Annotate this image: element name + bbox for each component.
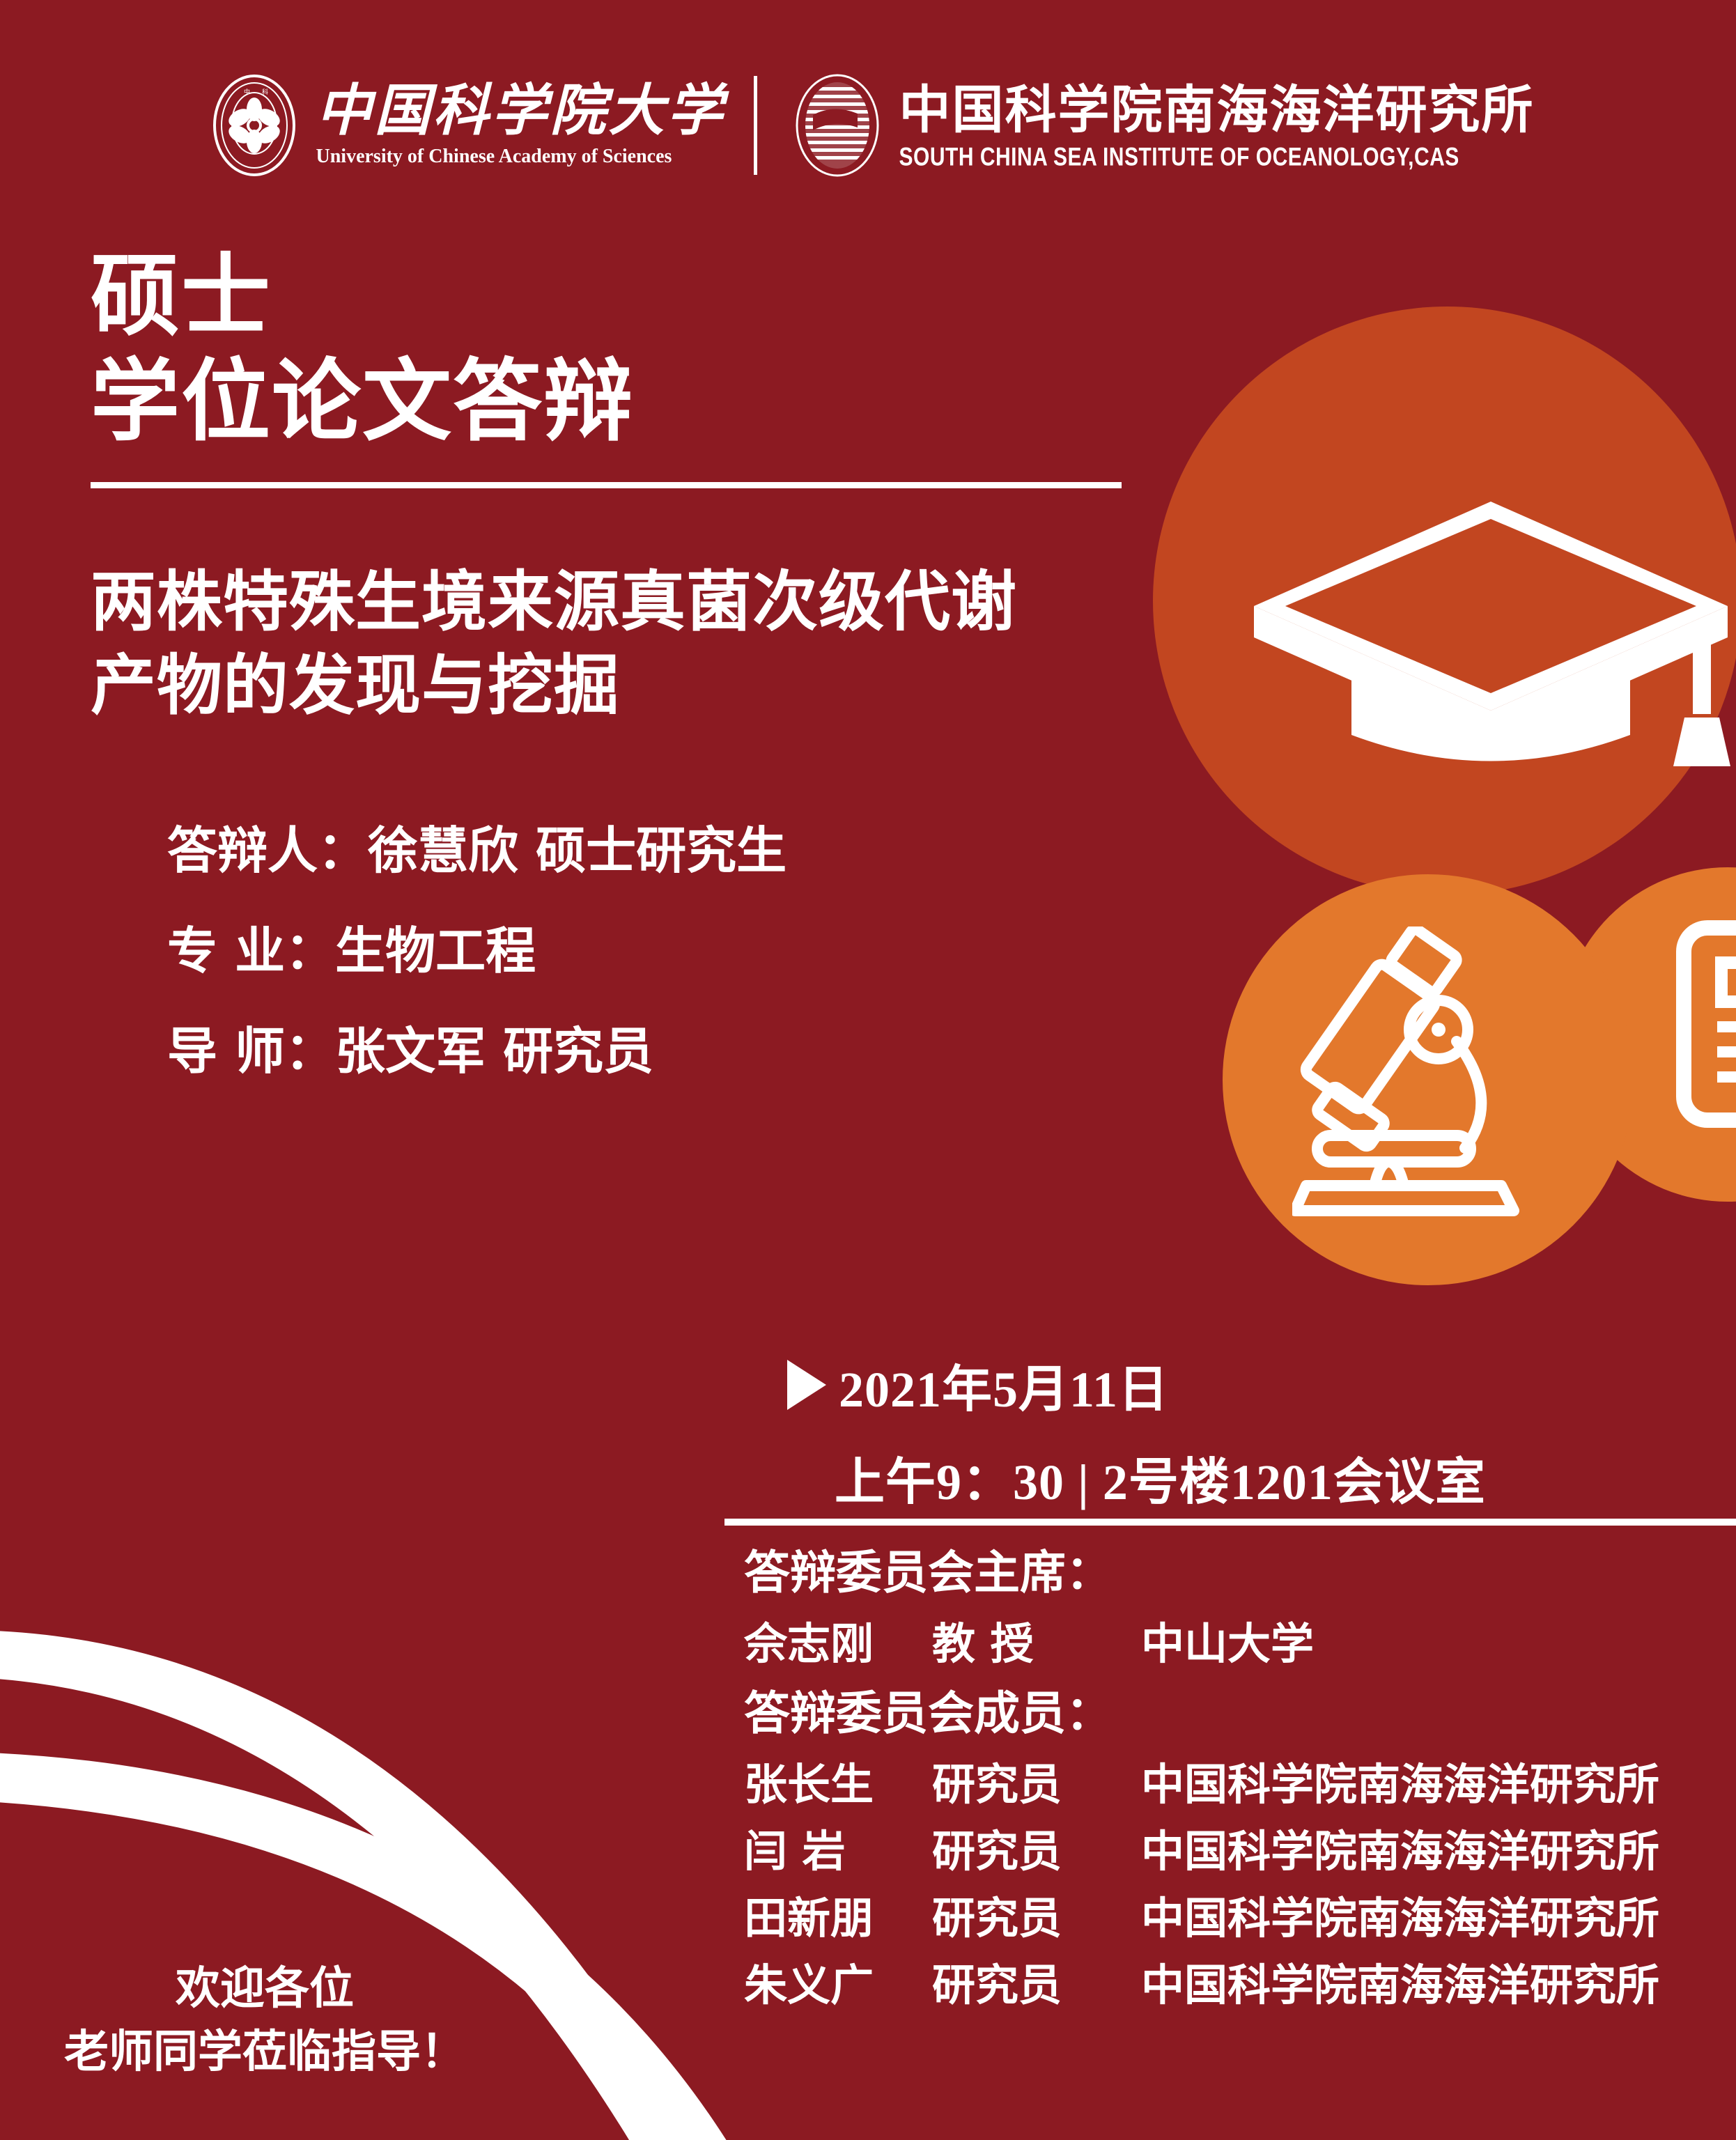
thesis-title: 两株特殊生境来源真菌次级代谢 产物的发现与挖掘 — [91, 561, 1149, 729]
committee-member-org: 中国科学院南海海洋研究所 — [1141, 1763, 1736, 1806]
thesis-title-line-1: 两株特殊生境来源真菌次级代谢 — [91, 561, 1149, 644]
committee-member-title: 研究员 — [932, 1897, 1141, 1940]
committee-member-org: 中国科学院南海海洋研究所 — [1141, 1830, 1736, 1873]
svg-text:中: 中 — [244, 88, 250, 96]
committee-member-org: 中国科学院南海海洋研究所 — [1141, 1897, 1736, 1940]
committee-chair-org: 中山大学 — [1141, 1622, 1736, 1666]
presenter-row-name: 答辩人：徐慧欣 硕士研究生 — [167, 825, 786, 876]
headline-line-2: 学位论文答辩 — [91, 349, 634, 454]
scsio-name-cn: 中国科学院南海海洋研究所 — [899, 84, 1535, 136]
committee-chair-title: 教 授 — [932, 1622, 1141, 1666]
document-icon — [1675, 920, 1736, 1129]
table-row: 田新朋 研究员 中国科学院南海海洋研究所 — [744, 1897, 1736, 1940]
committee-chair-name: 佘志刚 — [744, 1622, 932, 1666]
presenter-row-advisor: 导 师：张文军 研究员 — [167, 1026, 786, 1076]
committee-member-name: 田新朋 — [744, 1897, 932, 1940]
defense-date: 2021年5月11日 — [839, 1348, 1169, 1421]
table-row: 张长生 研究员 中国科学院南海海洋研究所 — [744, 1763, 1736, 1806]
play-triangle-icon — [787, 1360, 826, 1410]
table-row: 朱义广 研究员 中国科学院南海海洋研究所 — [744, 1964, 1736, 2007]
headline-divider — [91, 482, 1122, 488]
presenter-row-major: 专 业：生物工程 — [167, 926, 786, 976]
ucas-seal-icon: 中科 — [202, 73, 307, 178]
presenter-label-major: 专 业： — [167, 922, 335, 980]
graduation-cap-icon — [1247, 488, 1735, 780]
committee-member-title: 研究员 — [932, 1763, 1141, 1806]
committee-chair-heading: 答辩委员会主席： — [744, 1550, 1736, 1596]
page-title: 硕士 学位论文答辩 — [91, 244, 634, 454]
committee-member-name: 闫 岩 — [744, 1830, 932, 1873]
presenter-info: 答辩人：徐慧欣 硕士研究生 专 业：生物工程 导 师：张文军 研究员 — [167, 825, 786, 1126]
committee-member-name: 张长生 — [744, 1763, 932, 1806]
defense-date-row: 2021年5月11日 — [787, 1348, 1486, 1421]
presenter-value-major: 生物工程 — [335, 922, 536, 980]
welcome-message: 欢迎各位 老师同学莅临指导！ — [42, 1957, 488, 2084]
presenter-value-name: 徐慧欣 硕士研究生 — [368, 821, 786, 880]
presenter-label-advisor: 导 师： — [167, 1022, 335, 1080]
schedule-block: 2021年5月11日 上午9：30 | 2号楼1201会议室 — [787, 1348, 1486, 1514]
logo-divider — [754, 76, 757, 175]
welcome-line-2: 老师同学莅临指导！ — [42, 2021, 488, 2084]
ucas-logo-text: 中国科学院大学 University of Chinese Academy of… — [316, 83, 726, 168]
committee-block: 答辩委员会主席： 佘志刚 教 授 中山大学 答辩委员会成员： 张长生 研究员 中… — [744, 1550, 1736, 2031]
committee-member-org: 中国科学院南海海洋研究所 — [1141, 1964, 1736, 2007]
scsio-logo: 中国科学院南海海洋研究所 SOUTH CHINA SEA INSTITUTE O… — [785, 73, 1535, 178]
ucas-logo: 中科 中国科学院大学 University of Chinese Academy… — [202, 73, 726, 178]
defense-time-venue: 上午9：30 | 2号楼1201会议室 — [835, 1441, 1486, 1514]
poster-root: 中科 中国科学院大学 University of Chinese Academy… — [0, 0, 1736, 2140]
scsio-logo-text: 中国科学院南海海洋研究所 SOUTH CHINA SEA INSTITUTE O… — [899, 84, 1535, 166]
committee-member-title: 研究员 — [932, 1964, 1141, 2007]
thesis-title-line-2: 产物的发现与挖掘 — [91, 644, 1149, 728]
table-row: 闫 岩 研究员 中国科学院南海海洋研究所 — [744, 1830, 1736, 1873]
committee-member-title: 研究员 — [932, 1830, 1141, 1873]
svg-text:科: 科 — [262, 88, 268, 96]
scsio-seal-icon — [785, 73, 890, 178]
ucas-name-cn: 中国科学院大学 — [316, 83, 726, 139]
presenter-label-name: 答辩人： — [167, 821, 368, 880]
scsio-name-en: SOUTH CHINA SEA INSTITUTE OF OCEANOLOGY,… — [899, 143, 1535, 173]
headline-line-1: 硕士 — [91, 244, 634, 349]
welcome-line-1: 欢迎各位 — [42, 1957, 488, 2021]
presenter-value-advisor: 张文军 研究员 — [335, 1022, 653, 1080]
committee-divider — [724, 1519, 1736, 1526]
microscope-icon — [1292, 926, 1564, 1219]
committee-chair-row: 佘志刚 教 授 中山大学 — [744, 1622, 1736, 1666]
committee-members-heading: 答辩委员会成员： — [744, 1691, 1736, 1737]
header-logos: 中科 中国科学院大学 University of Chinese Academy… — [0, 56, 1736, 195]
ucas-name-en: University of Chinese Academy of Science… — [316, 146, 726, 168]
committee-member-name: 朱义广 — [744, 1964, 932, 2007]
